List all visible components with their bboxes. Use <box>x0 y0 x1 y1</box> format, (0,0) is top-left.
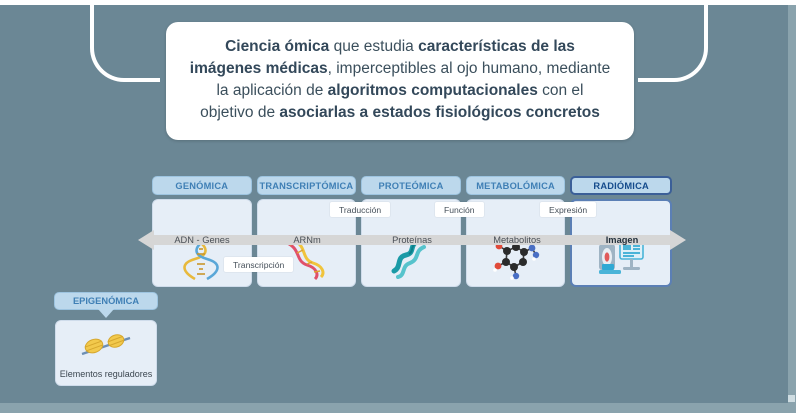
epigenomica-box: Elementos reguladores <box>55 320 157 386</box>
omics-tab-3[interactable]: METABOLÓMICA <box>466 176 566 195</box>
label-expresion: Expresión <box>540 202 596 217</box>
label-transcripcion: Transcripción <box>224 257 293 272</box>
epigenomica-pointer <box>98 309 114 318</box>
omics-tabs-row: GENÓMICATRANSCRIPTÓMICAPROTEÓMICAMETABOL… <box>152 176 672 195</box>
flow-label-3: Metabolitos <box>467 235 567 245</box>
flow-label-1: ARNm <box>257 235 357 245</box>
flow-label-4: Imagen <box>572 235 672 245</box>
omics-tab-1[interactable]: TRANSCRIPTÓMICA <box>257 176 357 195</box>
omics-columns-row: ADN - GenesARNmProteínasMetabolitosImage… <box>152 199 672 287</box>
right-border-strip <box>788 5 796 403</box>
omics-tab-2[interactable]: PROTEÓMICA <box>361 176 461 195</box>
omics-flow-diagram: GENÓMICATRANSCRIPTÓMICAPROTEÓMICAMETABOL… <box>152 176 672 376</box>
definition-text: Ciencia ómica que estudia característica… <box>190 38 610 121</box>
epigenomica-label: Elementos reguladores <box>60 369 153 379</box>
corner-marker <box>788 395 795 402</box>
flow-arrow-labels: ADN - GenesARNmProteínasMetabolitosImage… <box>152 229 672 251</box>
nucleosome-icon <box>78 321 134 369</box>
flow-label-2: Proteínas <box>362 235 462 245</box>
flow-label-0: ADN - Genes <box>152 235 252 245</box>
bracket-right-decoration <box>638 4 708 82</box>
bracket-left-decoration <box>90 4 160 82</box>
omics-tab-0[interactable]: GENÓMICA <box>152 176 252 195</box>
epigenomica-tab[interactable]: EPIGENÓMICA <box>54 292 158 310</box>
bottom-border-strip <box>0 403 796 413</box>
definition-callout: Ciencia ómica que estudia característica… <box>166 22 634 140</box>
label-traduccion: Traducción <box>330 202 390 217</box>
label-funcion: Función <box>435 202 484 217</box>
omics-tab-4[interactable]: RADIÓMICA <box>570 176 672 195</box>
